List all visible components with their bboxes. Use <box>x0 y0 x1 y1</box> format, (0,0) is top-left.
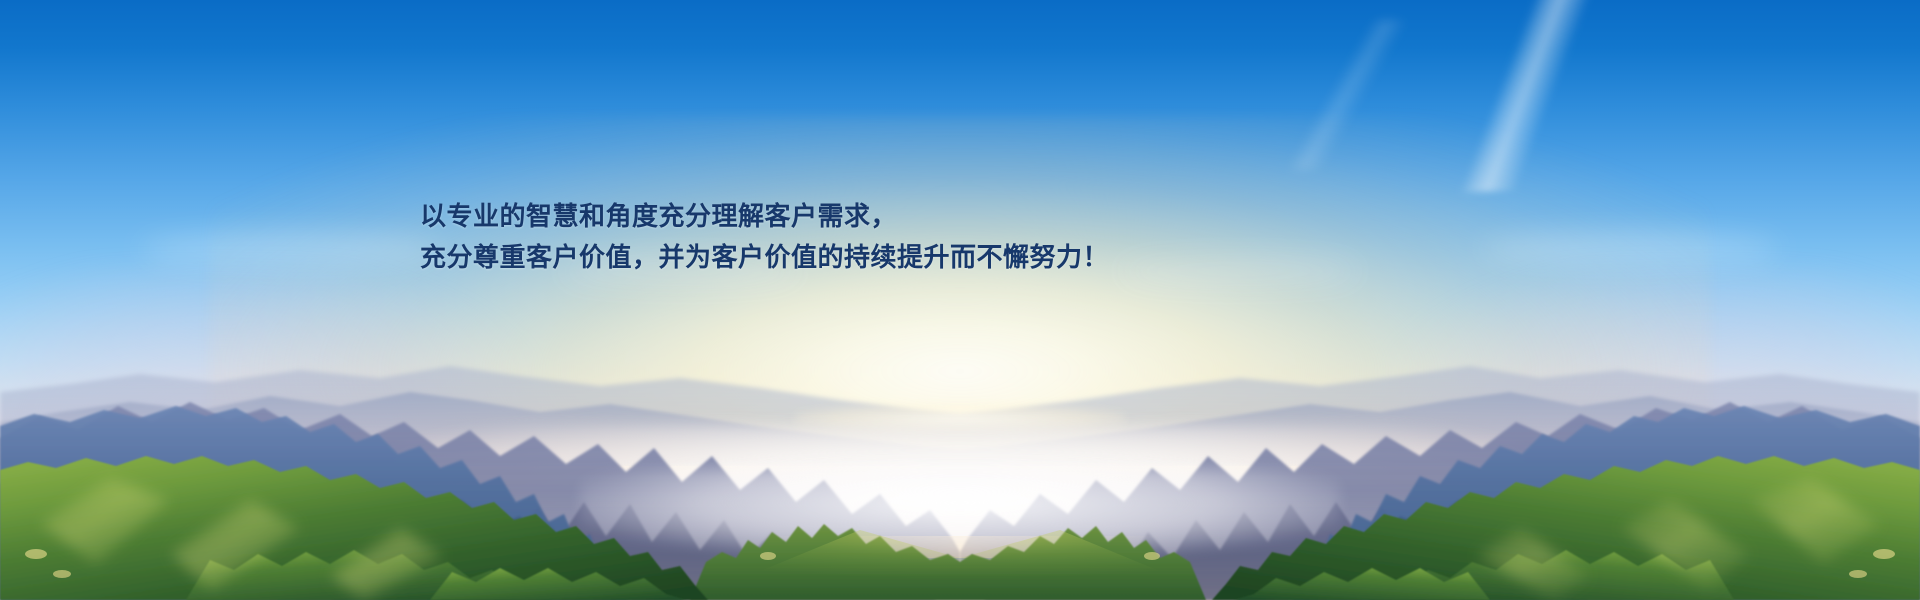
slogan-line-1: 以专业的智慧和角度充分理解客户需求， <box>420 196 1109 237</box>
cloud-wisp <box>1480 232 1780 266</box>
contrail-streak-secondary-icon <box>1180 20 1510 170</box>
cloud-wisp <box>1120 258 1360 284</box>
slogan-line-2: 充分尊重客户价值，并为客户价值的持续提升而不懈努力！ <box>420 237 1109 278</box>
hero-banner: 以专业的智慧和角度充分理解客户需求， 充分尊重客户价值，并为客户价值的持续提升而… <box>0 0 1920 600</box>
foreground-forest-layer <box>0 404 1920 600</box>
slogan-text: 以专业的智慧和角度充分理解客户需求， 充分尊重客户价值，并为客户价值的持续提升而… <box>420 196 1109 278</box>
cloud-wisp <box>140 232 440 266</box>
